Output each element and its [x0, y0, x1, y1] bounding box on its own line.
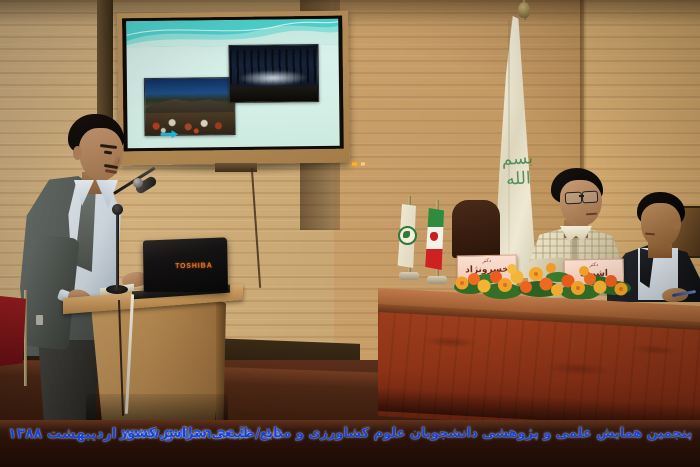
slide-next-arrow-icon	[161, 130, 179, 139]
speaker-nose	[112, 155, 120, 165]
rose-arrangement	[450, 243, 636, 299]
banner-finial	[518, 2, 530, 18]
panelist-a-glasses-left-lens	[565, 192, 583, 205]
university-flag-base	[399, 272, 419, 280]
slide-swoosh-graphic	[126, 19, 338, 48]
microphone-stand	[116, 207, 119, 289]
speaker-ear	[73, 146, 82, 160]
screen-power-led	[352, 162, 357, 165]
water-mist	[239, 70, 308, 85]
panelist-a-glasses-bridge	[579, 195, 584, 197]
laptop-lid: TOSHIBA	[143, 237, 228, 292]
panelist-b-ear	[672, 218, 681, 230]
screen-bezel	[122, 16, 344, 152]
panelist-a-glasses-right-lens	[582, 191, 599, 204]
conference-photograph: TOSHIBA بسم الله	[0, 0, 700, 467]
village-landscape-photo	[144, 77, 236, 136]
microphone-capsule	[133, 178, 143, 188]
village-rooftops	[145, 112, 234, 135]
microphone-joint	[112, 204, 123, 215]
forest-water-photo	[228, 44, 319, 103]
doorway-slab	[97, 0, 113, 124]
iran-flag-base	[427, 276, 447, 284]
presentation-slide	[126, 19, 340, 149]
foreground-ground	[230, 86, 318, 102]
projection-screen	[117, 11, 350, 166]
speaker-badge	[36, 315, 43, 325]
iran-flag-emblem-icon	[430, 232, 438, 241]
university-emblem-icon	[398, 226, 417, 245]
podium-shadow	[86, 394, 228, 422]
caption-event-title: پنجمین همایش علمی و پژوهشی دانشجویان علو…	[120, 426, 692, 441]
screen-status-led	[361, 162, 365, 165]
laptop-brand-logo: TOSHIBA	[175, 262, 213, 270]
maroon-standing-flag	[0, 296, 26, 366]
